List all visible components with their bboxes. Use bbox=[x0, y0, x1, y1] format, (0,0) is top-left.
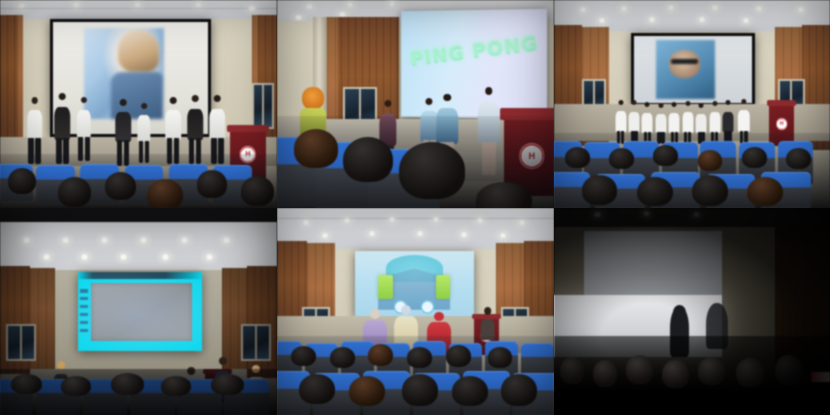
performer-body bbox=[210, 109, 226, 140]
performer-body bbox=[629, 112, 640, 133]
slide-title: PING PONG bbox=[409, 32, 542, 70]
auditorium-scene bbox=[0, 208, 277, 415]
ceiling-light bbox=[139, 237, 148, 243]
performer-head bbox=[645, 102, 650, 107]
audience-area bbox=[554, 336, 830, 415]
performer bbox=[25, 96, 44, 163]
performer-body bbox=[709, 112, 720, 132]
podium-emblem: H bbox=[776, 118, 787, 129]
projection-screen bbox=[78, 272, 203, 351]
ceiling-light bbox=[161, 254, 170, 260]
audience-head bbox=[343, 137, 393, 183]
actor-head bbox=[401, 305, 411, 315]
audience-head bbox=[501, 374, 537, 405]
ceiling-light bbox=[698, 17, 706, 22]
audience-head bbox=[698, 357, 726, 385]
slide-sidetick bbox=[80, 329, 87, 332]
collage-panel-4[interactable] bbox=[0, 208, 277, 415]
slide-topbar bbox=[78, 272, 203, 279]
audience-head bbox=[775, 355, 803, 385]
ceiling-light bbox=[247, 5, 257, 11]
audience-head bbox=[399, 142, 465, 199]
performer-head bbox=[618, 100, 623, 105]
audience-head bbox=[698, 150, 723, 171]
audience-head bbox=[294, 129, 338, 167]
performer-body bbox=[642, 113, 653, 133]
audience-head bbox=[452, 376, 488, 406]
window bbox=[252, 83, 274, 129]
audience-head bbox=[330, 347, 355, 367]
audience-head bbox=[161, 376, 191, 396]
performer-head bbox=[426, 98, 433, 105]
audience-head bbox=[662, 360, 690, 388]
audience-head bbox=[609, 148, 634, 169]
auditorium-scene: H bbox=[554, 0, 830, 208]
performer-head bbox=[192, 95, 199, 102]
audience-head bbox=[626, 355, 654, 383]
performer-head bbox=[170, 97, 177, 104]
ceiling-light bbox=[648, 17, 656, 22]
actor-head bbox=[370, 309, 380, 319]
ceiling-light bbox=[180, 237, 189, 243]
performer-body bbox=[737, 110, 749, 132]
performer-head bbox=[658, 103, 663, 108]
performer-head bbox=[120, 99, 127, 106]
host-head bbox=[484, 307, 492, 315]
mascot-head bbox=[302, 87, 324, 110]
audience-head bbox=[692, 175, 728, 206]
ceiling-light bbox=[598, 18, 606, 23]
photo-hair bbox=[118, 30, 160, 71]
performer-head bbox=[741, 99, 746, 104]
ceiling-light bbox=[593, 212, 602, 217]
slide-banner-left bbox=[378, 275, 392, 299]
collage-panel-5[interactable]: H bbox=[277, 208, 554, 415]
ceiling-light bbox=[100, 237, 109, 243]
ceiling-light bbox=[61, 237, 70, 243]
performer-head bbox=[632, 100, 637, 105]
ceiling-light bbox=[222, 237, 231, 243]
audience-head bbox=[368, 344, 393, 366]
audience-head bbox=[349, 376, 385, 406]
performer-head bbox=[685, 101, 690, 106]
slide-sidetick bbox=[80, 305, 87, 308]
slide-sidetick bbox=[80, 289, 87, 292]
podium-top bbox=[227, 125, 269, 133]
audience-head bbox=[58, 177, 91, 207]
audience-head bbox=[61, 376, 91, 396]
audience-head bbox=[565, 147, 590, 168]
slide-banner-right bbox=[436, 275, 450, 299]
audience-head bbox=[736, 358, 764, 386]
audience-head bbox=[111, 373, 144, 395]
performer-head bbox=[699, 103, 704, 108]
collage-panel-1[interactable]: H bbox=[0, 0, 277, 208]
photo-collage: H bbox=[0, 0, 830, 415]
ceiling-light bbox=[42, 254, 51, 260]
audience-area bbox=[554, 133, 830, 208]
ceiling-light bbox=[205, 254, 214, 260]
photo-sunglasses bbox=[671, 59, 698, 64]
audience-area bbox=[0, 154, 277, 208]
ceiling-band bbox=[277, 208, 554, 219]
podium-top bbox=[767, 100, 796, 106]
performer-head bbox=[712, 101, 717, 106]
performer-head bbox=[81, 97, 87, 103]
audience-area bbox=[0, 369, 277, 415]
performer bbox=[186, 94, 205, 163]
performer-head bbox=[672, 102, 677, 107]
performer-body bbox=[696, 114, 707, 133]
performer bbox=[75, 96, 93, 160]
slide-canvas bbox=[91, 283, 192, 341]
window-right bbox=[241, 324, 271, 361]
slide-sidetick bbox=[80, 321, 87, 324]
performer-head bbox=[485, 87, 492, 94]
audience-head bbox=[241, 176, 274, 206]
performer-body bbox=[27, 110, 43, 139]
performer-body bbox=[165, 110, 181, 139]
exit-light bbox=[811, 372, 830, 382]
audience-head bbox=[11, 374, 41, 394]
collage-panel-6[interactable] bbox=[554, 208, 830, 415]
speaker-head bbox=[57, 361, 65, 369]
audience-head bbox=[197, 170, 227, 198]
audience-area bbox=[277, 116, 554, 208]
actor-head bbox=[434, 312, 444, 322]
projected-photo bbox=[656, 40, 715, 99]
performer-head bbox=[725, 100, 730, 105]
audience-head bbox=[211, 374, 244, 395]
performer bbox=[163, 96, 182, 163]
performer-head bbox=[141, 103, 147, 109]
performer-body bbox=[682, 112, 693, 132]
ceiling-panel bbox=[0, 222, 277, 273]
audience-head bbox=[747, 177, 783, 207]
performer-head bbox=[31, 97, 38, 104]
auditorium-scene: PING PONG H bbox=[277, 0, 554, 208]
performer-body bbox=[55, 107, 71, 140]
performer-body bbox=[669, 113, 680, 133]
ceiling-light bbox=[133, 2, 142, 7]
audience-head bbox=[402, 374, 438, 405]
performer-body bbox=[137, 115, 150, 142]
performer-body bbox=[116, 112, 132, 141]
audience-head bbox=[786, 148, 811, 169]
performer-body bbox=[722, 112, 733, 133]
audience-area bbox=[277, 336, 554, 415]
collage-panel-3[interactable]: H bbox=[554, 0, 830, 208]
performer-body bbox=[615, 111, 626, 132]
audience-head bbox=[8, 168, 36, 194]
performer-head bbox=[214, 95, 221, 102]
ceiling-light bbox=[305, 4, 314, 9]
performer-head bbox=[444, 94, 451, 101]
audience-head bbox=[407, 347, 432, 367]
projection-screen bbox=[634, 36, 752, 103]
performer bbox=[53, 92, 72, 163]
audience-head bbox=[637, 177, 673, 207]
audience-head bbox=[582, 175, 618, 205]
performer-body bbox=[655, 114, 666, 133]
audience-head bbox=[291, 346, 316, 366]
audience-head bbox=[593, 360, 618, 387]
audience-head bbox=[299, 374, 335, 404]
audience-head bbox=[488, 347, 513, 367]
auditorium-scene bbox=[554, 208, 830, 415]
slide-sidetick bbox=[80, 313, 87, 316]
audience-head bbox=[476, 182, 531, 208]
audience-head bbox=[560, 357, 585, 384]
speaker-head bbox=[219, 357, 227, 365]
projection-screen-frame bbox=[631, 33, 755, 106]
ceiling-light bbox=[499, 233, 507, 238]
ceiling-light bbox=[416, 231, 424, 236]
window-left bbox=[6, 324, 36, 361]
projection-screen-frame bbox=[78, 272, 203, 351]
audience-head bbox=[742, 147, 767, 168]
audience-head bbox=[446, 345, 471, 367]
collage-panel-2[interactable]: PING PONG H bbox=[277, 0, 554, 208]
ceiling-light bbox=[80, 254, 89, 260]
audience-head bbox=[105, 172, 135, 200]
ceiling-light bbox=[119, 254, 128, 260]
ceiling-light bbox=[294, 15, 303, 20]
audience-head bbox=[653, 145, 678, 166]
ceiling-light bbox=[388, 1, 396, 6]
performer-body bbox=[188, 109, 204, 140]
auditorium-scene: H bbox=[277, 208, 554, 415]
ceiling-light bbox=[17, 3, 26, 8]
performer-body bbox=[77, 110, 91, 138]
audience-head bbox=[147, 179, 183, 208]
ceiling-light bbox=[460, 232, 468, 237]
performer bbox=[208, 94, 227, 163]
performer-head bbox=[59, 93, 66, 100]
performer-head bbox=[384, 100, 391, 107]
slide-sidetick bbox=[80, 297, 87, 300]
ceiling-light bbox=[742, 18, 750, 23]
auditorium-scene: H bbox=[0, 0, 277, 208]
